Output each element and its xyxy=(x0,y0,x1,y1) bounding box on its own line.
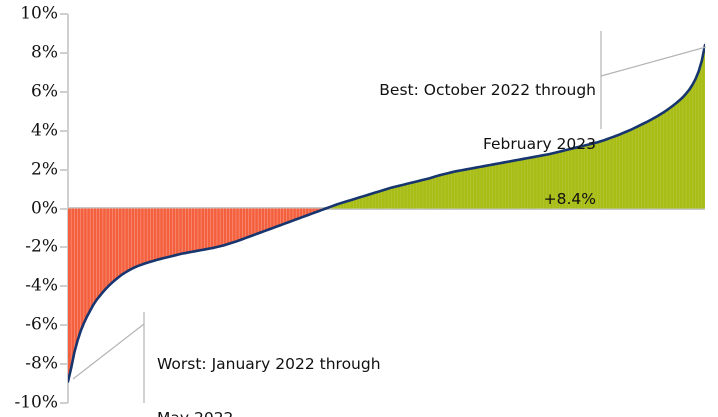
y-axis-tick-label: 6% xyxy=(31,83,58,100)
y-axis: 10%8%6%4%2%0%-2%-4%-6%-8%-10% xyxy=(0,0,58,417)
annotation-worst: Worst: January 2022 through May 2022 -8.… xyxy=(157,318,381,417)
y-axis-tick-mark xyxy=(60,91,68,93)
y-axis-tick-label: 8% xyxy=(31,44,58,61)
annotation-best-line-2: February 2023 xyxy=(379,135,596,153)
y-axis-tick-mark xyxy=(60,363,68,365)
y-axis-tick-label: -8% xyxy=(25,356,58,373)
y-axis-tick-label: 4% xyxy=(31,122,58,139)
annotation-best-line-1: Best: October 2022 through xyxy=(379,81,596,99)
y-axis-tick-label: -10% xyxy=(14,395,58,412)
y-axis-tick-mark xyxy=(60,208,68,210)
annotation-best: Best: October 2022 through February 2023… xyxy=(379,44,596,245)
annotation-best-line-3: +8.4% xyxy=(379,190,596,208)
y-axis-tick-mark xyxy=(60,169,68,171)
y-axis-tick-label: 10% xyxy=(20,6,58,23)
y-axis-tick-label: 2% xyxy=(31,161,58,178)
y-axis-tick-mark xyxy=(60,246,68,248)
y-axis-tick-label: 0% xyxy=(31,200,58,217)
chart-root: 10%8%6%4%2%0%-2%-4%-6%-8%-10% Best: Octo… xyxy=(0,0,718,417)
y-axis-tick-label: -6% xyxy=(25,317,58,334)
y-axis-tick-mark xyxy=(60,285,68,287)
y-axis-tick-mark xyxy=(60,52,68,54)
annotation-worst-line-1: Worst: January 2022 through xyxy=(157,355,381,373)
y-axis-tick-mark xyxy=(60,13,68,15)
annotation-worst-line-2: May 2022 xyxy=(157,409,381,417)
y-axis-tick-mark xyxy=(60,130,68,132)
y-axis-tick-mark xyxy=(60,402,68,404)
y-axis-tick-mark xyxy=(60,324,68,326)
y-axis-tick-label: -4% xyxy=(25,278,58,295)
y-axis-tick-label: -2% xyxy=(25,239,58,256)
